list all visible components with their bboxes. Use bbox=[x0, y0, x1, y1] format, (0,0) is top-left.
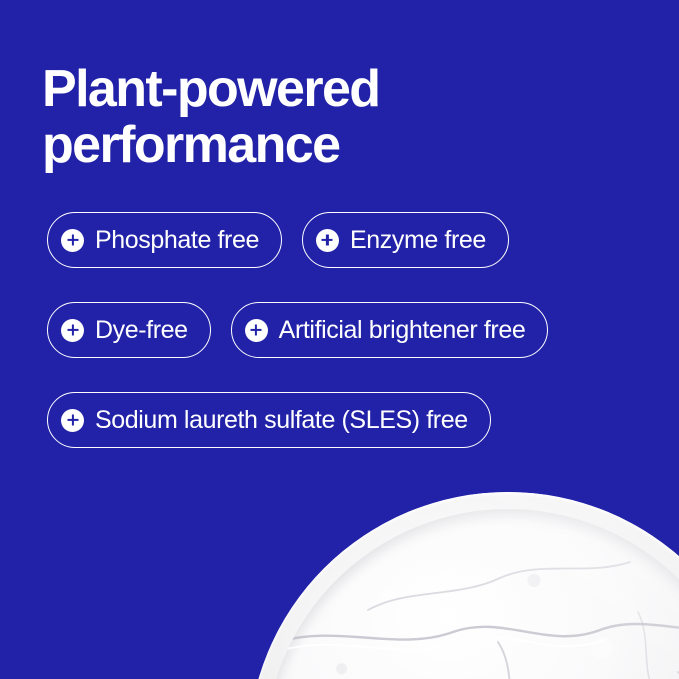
plus-circle-icon bbox=[61, 229, 84, 252]
page-title: Plant-powered performance bbox=[42, 61, 602, 173]
promo-card: Plant-powered performance Phosphate free… bbox=[0, 0, 679, 679]
claim-label: Sodium laureth sulfate (SLES) free bbox=[95, 406, 468, 435]
claim-pill-enzyme-free[interactable]: Enzyme free bbox=[302, 212, 509, 268]
claim-pill-sodium-laureth-sulfate-free[interactable]: Sodium laureth sulfate (SLES) free bbox=[47, 392, 491, 448]
claim-label: Dye-free bbox=[95, 316, 188, 345]
plus-circle-icon bbox=[316, 229, 339, 252]
claims-list: Phosphate free Enzyme free Dye-free Arti… bbox=[47, 212, 647, 482]
claims-row: Dye-free Artificial brightener free bbox=[47, 302, 647, 358]
claim-label: Phosphate free bbox=[95, 226, 259, 255]
product-powder-image bbox=[248, 492, 679, 679]
claim-pill-dye-free[interactable]: Dye-free bbox=[47, 302, 211, 358]
claim-pill-artificial-brightener-free[interactable]: Artificial brightener free bbox=[231, 302, 549, 358]
claims-row: Sodium laureth sulfate (SLES) free bbox=[47, 392, 647, 448]
claim-pill-phosphate-free[interactable]: Phosphate free bbox=[47, 212, 282, 268]
claim-label: Enzyme free bbox=[350, 226, 486, 255]
claim-label: Artificial brightener free bbox=[279, 316, 526, 345]
plus-circle-icon bbox=[61, 409, 84, 432]
plus-circle-icon bbox=[61, 319, 84, 342]
claims-row: Phosphate free Enzyme free bbox=[47, 212, 647, 268]
plus-circle-icon bbox=[245, 319, 268, 342]
